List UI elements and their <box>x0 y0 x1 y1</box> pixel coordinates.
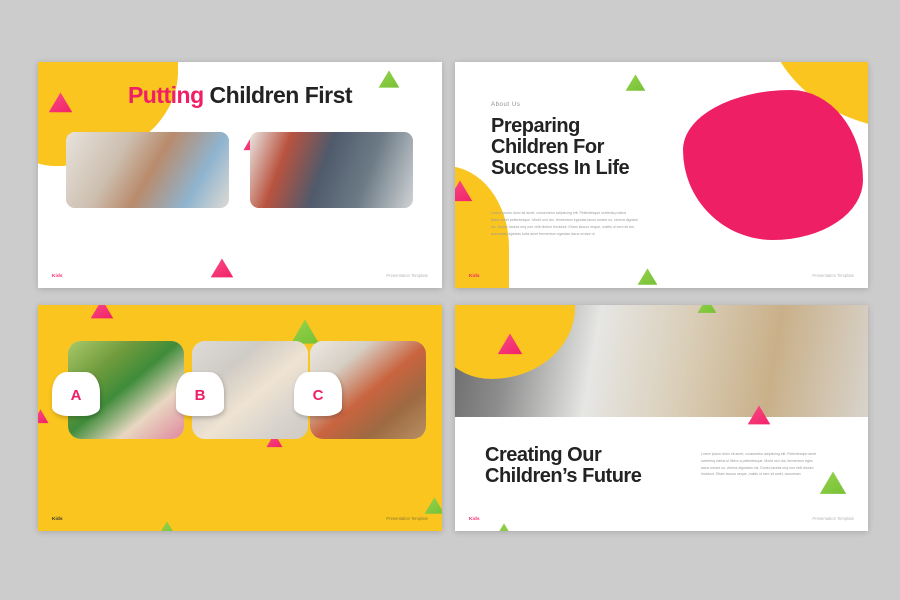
badge-letter-a: A <box>52 372 100 416</box>
slide-2-title-line-1: Preparing <box>491 116 629 137</box>
photo-classroom-teacher <box>66 132 229 208</box>
slide-1[interactable]: Putting Children First A Family Of Learn… <box>38 62 442 288</box>
eyebrow-about-us: About Us <box>491 102 520 108</box>
body-line-3: nis. Donec lacinia neq non velit dictum … <box>491 224 671 231</box>
body-line-4: accumsan egestas turfa amet fermentum eg… <box>491 231 671 238</box>
badge-letter-text: A <box>52 387 100 404</box>
body-line-2: scelerisq metus ut libero a pellentesque… <box>701 458 836 465</box>
pink-triangle-icon <box>210 258 234 280</box>
body-line-3: lacus ornare us, viverra dignissim nis. … <box>701 465 836 472</box>
brand-logo: Kids <box>469 516 480 521</box>
footer-label: Presentation Template <box>386 273 428 278</box>
feature-card-c[interactable]: C Education Lorem ipsum dolor sit amet, … <box>310 341 426 400</box>
slide-4[interactable]: Creating Our Children’s Future Lorem ips… <box>455 305 868 531</box>
green-triangle-icon <box>637 268 658 287</box>
badge-letter-text: B <box>176 387 224 404</box>
photo-students-raising-hands <box>250 132 413 208</box>
feature-card-a[interactable]: A Fun Game Lorem ipsum dolor sit amet, c… <box>68 341 184 400</box>
slide-3[interactable]: A Fun Game Lorem ipsum dolor sit amet, c… <box>38 305 442 531</box>
body-line-4: tincidunt. Etiam lacuus neque, mattis ut… <box>701 471 836 478</box>
slide-preview-board: Putting Children First A Family Of Learn… <box>0 0 900 600</box>
brand-logo: Kids <box>52 273 63 278</box>
slide-2[interactable]: About Us Preparing Children For Success … <box>455 62 868 288</box>
photo-teacher-classroom-blob <box>669 86 853 234</box>
body-line-2: libero amet pellentesque. Morbi orci dui… <box>491 217 671 224</box>
footer-label: Presentation Template <box>812 516 854 521</box>
slide-4-title-line-1: Creating Our <box>485 445 641 466</box>
green-triangle-icon <box>424 497 442 516</box>
title-accent-text: Putting <box>128 82 204 108</box>
green-triangle-icon <box>625 74 646 93</box>
footer-label: Presentation Template <box>386 516 428 521</box>
footer-label: Presentation Template <box>812 273 854 278</box>
slide-2-title-line-3: Success In Life <box>491 158 629 179</box>
title-rest-text: Children First <box>204 82 352 108</box>
green-triangle-icon <box>493 523 515 531</box>
green-triangle-icon <box>156 521 178 531</box>
brand-logo: Kids <box>52 516 63 521</box>
badge-letter-c: C <box>294 372 342 416</box>
slide-2-title-line-2: Children For <box>491 137 629 158</box>
feature-card-b[interactable]: B Outbond Lorem ipsum dolor sit amet, co… <box>192 341 308 400</box>
body-line-1: Lorem ipsum dolor sit amet, consectetur … <box>491 210 671 217</box>
body-line-1: Lorem ipsum dolor sit amet, consectetur … <box>701 451 836 458</box>
slide-1-title: Putting Children First <box>38 84 442 108</box>
content-card-1[interactable]: A Family Of Learning Lorem ipsum dolor s… <box>66 132 229 185</box>
content-card-2[interactable]: A Family Of Learning Lorem ipsum dolor s… <box>250 132 413 185</box>
pink-triangle-icon <box>90 305 114 321</box>
brand-logo: Kids <box>469 273 480 278</box>
badge-letter-b: B <box>176 372 224 416</box>
badge-letter-text: C <box>294 387 342 404</box>
pink-triangle-icon <box>38 409 49 425</box>
slide-4-title-line-2: Children’s Future <box>485 466 641 487</box>
photo-classroom-wide <box>455 305 868 417</box>
